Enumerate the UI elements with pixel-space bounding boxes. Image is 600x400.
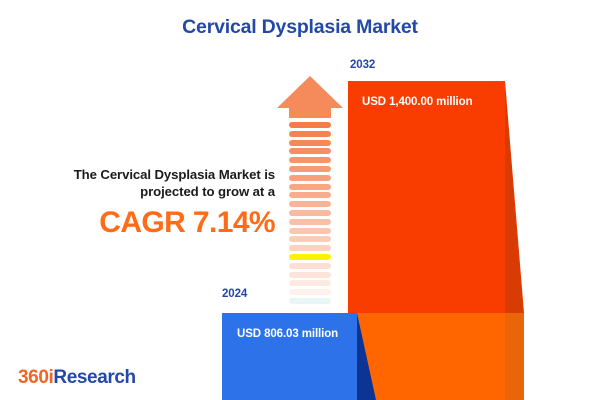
bar-2032-front-face-upper bbox=[348, 81, 505, 313]
statement-line-1: The Cervical Dysplasia Market is bbox=[30, 166, 275, 183]
bar-2032-side-face bbox=[505, 81, 524, 313]
growth-arrow-icon bbox=[277, 76, 343, 291]
arrow-head-icon bbox=[277, 76, 343, 108]
arrow-shaft-segment bbox=[289, 298, 331, 304]
arrow-shaft-segment bbox=[289, 219, 331, 225]
arrow-shaft-segment bbox=[289, 192, 331, 198]
arrow-neck bbox=[289, 108, 331, 118]
arrow-shaft-segment bbox=[289, 148, 331, 154]
arrow-shaft-segment bbox=[289, 228, 331, 234]
growth-statement: The Cervical Dysplasia Market is project… bbox=[30, 166, 275, 240]
arrow-shaft-segment bbox=[289, 184, 331, 190]
brand-logo: 360iResearch bbox=[18, 367, 136, 389]
bar-label-2024: 2024 bbox=[222, 288, 247, 300]
bar-2032-side-face-lower bbox=[505, 313, 524, 400]
page-title: Cervical Dysplasia Market bbox=[0, 16, 600, 39]
logo-360: 360 bbox=[18, 367, 49, 388]
arrow-shaft-segment bbox=[289, 263, 331, 269]
arrow-shaft-segment bbox=[289, 210, 331, 216]
arrow-shaft-segment bbox=[289, 166, 331, 172]
arrow-shaft-segment bbox=[289, 272, 331, 278]
statement-line-2: projected to grow at a bbox=[30, 183, 275, 200]
bar-2032-value-label: USD 1,400.00 million bbox=[362, 96, 473, 108]
arrow-shaft-segment bbox=[289, 131, 331, 137]
logo-research: Research bbox=[53, 367, 135, 388]
arrow-shaft-segment bbox=[289, 289, 331, 295]
bar-2024-front-face bbox=[222, 313, 357, 400]
bar-2024-value-label: USD 806.03 million bbox=[237, 328, 338, 340]
arrow-shaft-segment bbox=[289, 280, 331, 286]
arrow-shaft-segment bbox=[289, 245, 331, 251]
arrow-shaft-segment bbox=[289, 236, 331, 242]
cagr-value: CAGR 7.14% bbox=[30, 206, 275, 240]
arrow-shaft-segment bbox=[289, 140, 331, 146]
arrow-shaft-segment bbox=[289, 201, 331, 207]
bar-label-2032: 2032 bbox=[350, 59, 375, 71]
arrow-shaft-segment bbox=[289, 157, 331, 163]
infographic-canvas: Cervical Dysplasia Market The Cervical D… bbox=[0, 0, 600, 400]
arrow-shaft-segment bbox=[289, 307, 331, 313]
arrow-shaft-segment bbox=[289, 175, 331, 181]
arrow-shaft-segment bbox=[289, 122, 331, 128]
arrow-shaft-segment bbox=[289, 254, 331, 260]
